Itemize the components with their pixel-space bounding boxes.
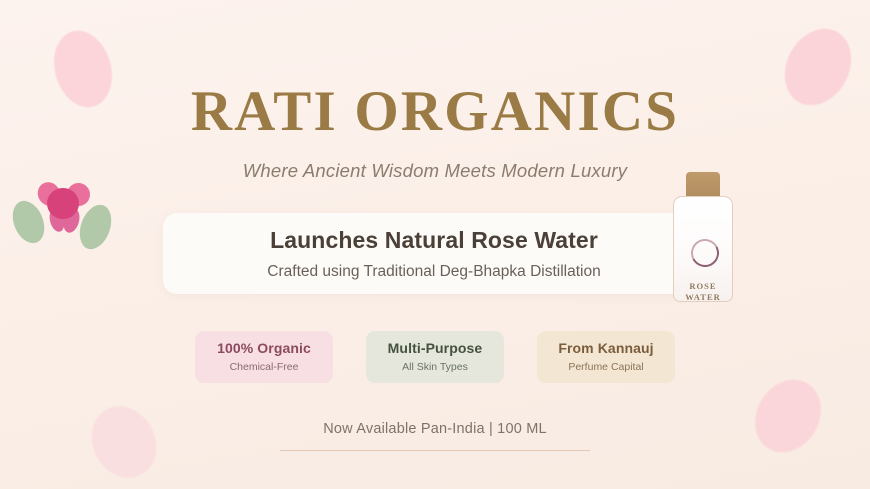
bottle-body: ROSE WATER <box>673 196 733 302</box>
announcement-subheadline: Crafted using Traditional Deg-Bhapka Dis… <box>163 263 705 281</box>
badge-organic-subtitle: Chemical-Free <box>195 361 333 374</box>
badge-multi-purpose-title: Multi-Purpose <box>366 340 504 357</box>
bottle-label-line1: ROSE <box>674 281 732 292</box>
footer: Now Available Pan-India | 100 ML <box>0 421 870 451</box>
badge-kannauj-title: From Kannauj <box>537 340 675 357</box>
petal-upper-left <box>33 178 64 210</box>
leaf-icon-left <box>7 196 50 248</box>
rose-ring-icon <box>687 235 722 270</box>
petal-lower-right <box>61 206 82 234</box>
badge-kannauj: From Kannauj Perfume Capital <box>537 331 675 383</box>
bottle-label: ROSE WATER <box>674 281 732 302</box>
banner-canvas: RATI ORGANICS Where Ancient Wisdom Meets… <box>0 0 870 489</box>
badge-organic-title: 100% Organic <box>195 340 333 357</box>
petal-upper-right <box>63 179 95 211</box>
bottle-cap-icon <box>686 172 720 198</box>
badge-multi-purpose: Multi-Purpose All Skin Types <box>366 331 504 383</box>
badge-multi-purpose-subtitle: All Skin Types <box>366 361 504 374</box>
badge-kannauj-subtitle: Perfume Capital <box>537 361 675 374</box>
bottle-icon: ROSE WATER <box>673 172 733 302</box>
petal-center <box>47 188 79 219</box>
availability-text: Now Available Pan-India | 100 ML <box>0 421 870 437</box>
announcement-card: Launches Natural Rose Water Crafted usin… <box>163 213 705 294</box>
brand-title: RATI ORGANICS <box>0 83 870 140</box>
petal-lower-left <box>47 207 66 234</box>
leaf-icon-right <box>74 200 117 253</box>
bottle-label-line2: WATER <box>674 292 732 303</box>
feature-badge-row: 100% Organic Chemical-Free Multi-Purpose… <box>195 331 675 383</box>
announcement-headline: Launches Natural Rose Water <box>163 227 705 254</box>
brand-tagline: Where Ancient Wisdom Meets Modern Luxury <box>0 160 870 182</box>
badge-organic: 100% Organic Chemical-Free <box>195 331 333 383</box>
footer-divider <box>280 450 590 451</box>
